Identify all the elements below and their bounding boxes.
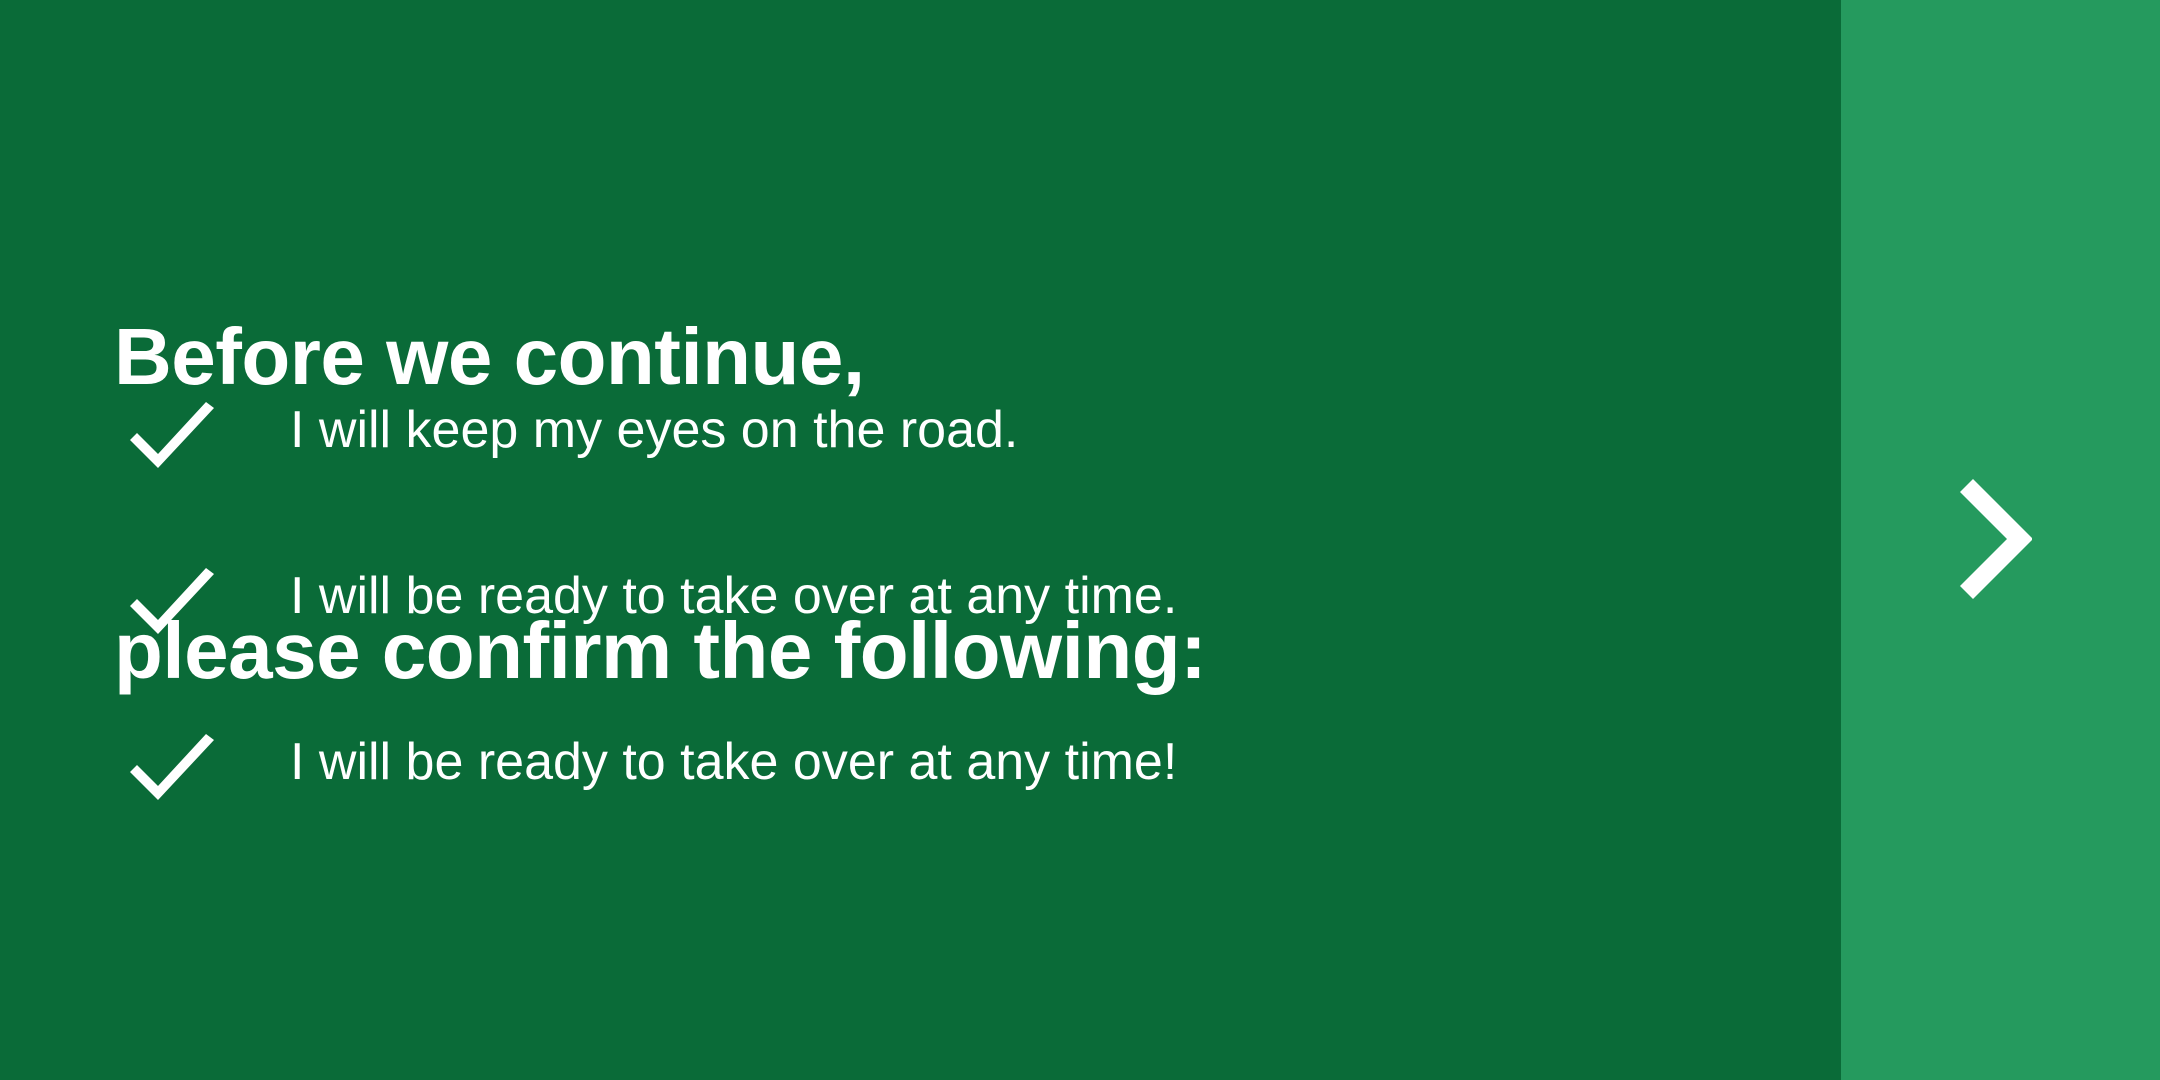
check-icon bbox=[114, 724, 290, 814]
confirmation-checklist: I will keep my eyes on the road. I will … bbox=[114, 392, 1734, 890]
confirmation-screen: Before we continue, please confirm the f… bbox=[0, 0, 2160, 1080]
checklist-item[interactable]: I will keep my eyes on the road. bbox=[114, 392, 1734, 558]
checklist-item[interactable]: I will be ready to take over at any time… bbox=[114, 724, 1734, 890]
chevron-right-icon bbox=[1960, 479, 2032, 599]
check-icon bbox=[114, 392, 290, 482]
checklist-item[interactable]: I will be ready to take over at any time… bbox=[114, 558, 1734, 724]
next-button[interactable] bbox=[1922, 461, 2082, 621]
checklist-item-label: I will be ready to take over at any time… bbox=[290, 558, 1177, 632]
checklist-item-label: I will keep my eyes on the road. bbox=[290, 392, 1018, 466]
checklist-item-label: I will be ready to take over at any time… bbox=[290, 724, 1177, 798]
check-icon bbox=[114, 558, 290, 648]
